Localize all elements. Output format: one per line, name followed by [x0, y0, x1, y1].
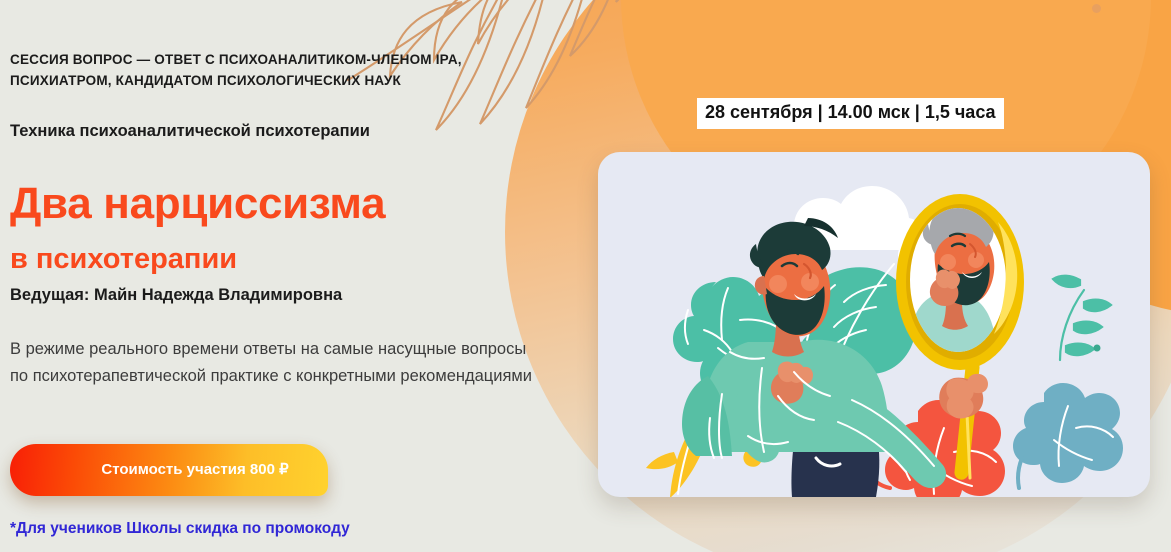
kicker-text: СЕССИЯ ВОПРОС — ОТВЕТ С ПСИХОАНАЛИТИКОМ-… [10, 50, 555, 92]
page-title: Два нарциссизма [10, 182, 385, 226]
cheek-left [769, 275, 787, 293]
illustration-card [598, 152, 1150, 497]
page-title-secondary: в психотерапии [10, 245, 237, 274]
poster-text-column: СЕССИЯ ВОПРОС — ОТВЕТ С ПСИХОАНАЛИТИКОМ-… [10, 0, 555, 552]
man-with-hand-mirror-illustration [598, 152, 1150, 497]
orange-dot [1092, 4, 1101, 13]
sprig-icon [1053, 276, 1111, 360]
host-label: Ведущая: Майн Надежда Владимировна [10, 286, 342, 305]
poster-stage: СЕССИЯ ВОПРОС — ОТВЕТ С ПСИХОАНАЛИТИКОМ-… [0, 0, 1171, 552]
lead-paragraph: В режиме реального времени ответы на сам… [10, 336, 540, 389]
promo-note: *Для учеников Школы скидка по промокоду [10, 520, 350, 538]
price-cta-button[interactable]: Стоимость участия 800 ₽ [10, 444, 328, 496]
status-badge: 28 сентября | 14.00 мск | 1,5 часа [697, 98, 1004, 129]
blue-leaf-icon [1013, 383, 1123, 488]
sprig-dot-icon [1094, 345, 1101, 352]
course-subtitle: Техника психоаналитической психотерапии [10, 122, 370, 141]
